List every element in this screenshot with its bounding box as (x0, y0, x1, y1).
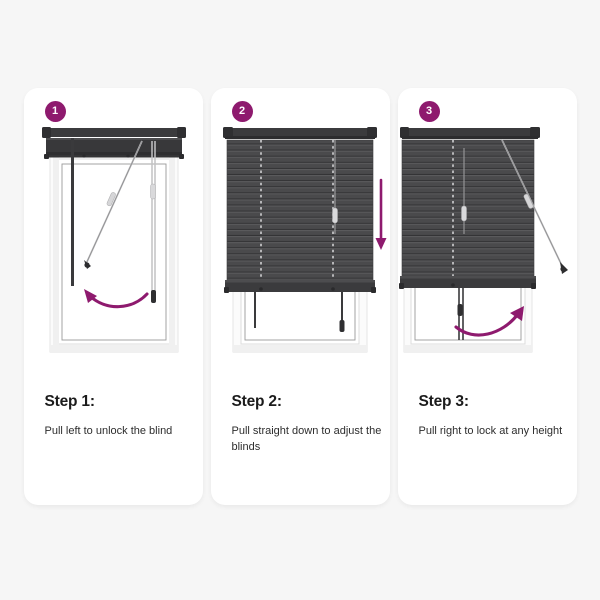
step-text-2: Step 2: Pull straight down to adjust the… (232, 393, 382, 455)
step-illustration-3 (398, 114, 577, 382)
step-card-2[interactable]: 2 (211, 88, 390, 505)
arrow-down-icon (375, 180, 386, 250)
venetian-blind-raised-icon (42, 127, 186, 159)
step-title: Step 1: (45, 393, 195, 411)
step-title: Step 3: (419, 393, 569, 411)
step-text-3: Step 3: Pull right to lock at any height (419, 393, 569, 440)
blind-tape-left (71, 138, 74, 286)
step-illustration-2 (211, 114, 390, 382)
step-description: Pull right to lock at any height (419, 424, 569, 440)
step-number-badge: 1 (45, 101, 66, 122)
step-card-3[interactable]: 3 (398, 88, 577, 505)
venetian-blind-lowered-icon (224, 140, 376, 293)
step-card-row: 1 (0, 88, 600, 508)
venetian-blind-partial-icon (399, 140, 536, 289)
step-title: Step 2: (232, 393, 382, 411)
step-number-badge: 3 (419, 101, 440, 122)
step-text-1: Step 1: Pull left to unlock the blind (45, 393, 195, 440)
window-frame-icon (50, 150, 178, 353)
step-number-badge: 2 (232, 101, 253, 122)
step-description: Pull left to unlock the blind (45, 424, 195, 440)
step-card-1[interactable]: 1 (24, 88, 203, 505)
blind-headrail-icon (223, 127, 377, 139)
step-illustration-1 (24, 114, 203, 382)
instruction-board: 1 (0, 0, 600, 600)
blind-headrail-icon (400, 127, 540, 139)
step-description: Pull straight down to adjust the blinds (232, 424, 382, 455)
